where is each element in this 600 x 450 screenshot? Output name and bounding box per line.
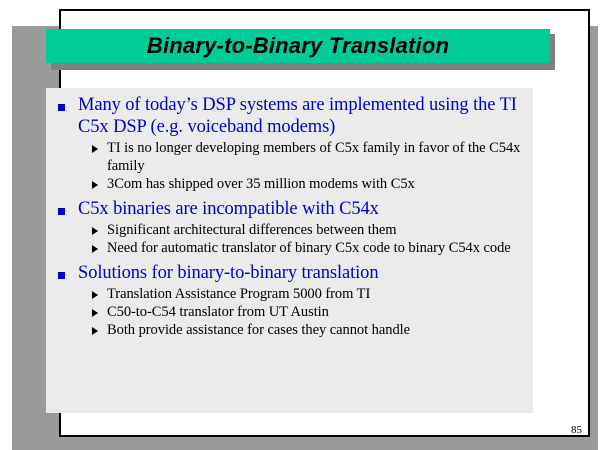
bullet-level2-label: Significant architectural differences be… bbox=[107, 221, 397, 239]
bullet-level2: Significant architectural differences be… bbox=[46, 221, 533, 239]
bullet-level1-label: C5x binaries are incompatible with C54x bbox=[78, 198, 379, 220]
square-bullet-icon bbox=[58, 104, 65, 111]
page-title: Binary-to-Binary Translation bbox=[147, 33, 449, 59]
bullet-level1: C5x binaries are incompatible with C54x bbox=[46, 198, 533, 220]
triangle-bullet-icon bbox=[92, 291, 98, 299]
bullet-level1: Solutions for binary-to-binary translati… bbox=[46, 262, 533, 284]
bullet-level2-label: Both provide assistance for cases they c… bbox=[107, 321, 410, 339]
bullet-level2: 3Com has shipped over 35 million modems … bbox=[46, 175, 533, 193]
bullet-level2: Translation Assistance Program 5000 from… bbox=[46, 285, 533, 303]
bullet-level1-label: Many of today’s DSP systems are implemen… bbox=[78, 94, 525, 138]
bullet-level1: Many of today’s DSP systems are implemen… bbox=[46, 94, 533, 138]
triangle-bullet-icon bbox=[92, 227, 98, 235]
bullet-level2-label: C50-to-C54 translator from UT Austin bbox=[107, 303, 329, 321]
triangle-bullet-icon bbox=[92, 309, 98, 317]
square-bullet-icon bbox=[58, 272, 65, 279]
bullet-level2-label: Translation Assistance Program 5000 from… bbox=[107, 285, 370, 303]
bullet-level2-label: Need for automatic translator of binary … bbox=[107, 239, 511, 257]
title-banner: Binary-to-Binary Translation bbox=[46, 29, 550, 63]
bullet-level2: Need for automatic translator of binary … bbox=[46, 239, 533, 257]
content-panel: Many of today’s DSP systems are implemen… bbox=[46, 88, 533, 413]
triangle-bullet-icon bbox=[92, 181, 98, 189]
triangle-bullet-icon bbox=[92, 145, 98, 153]
bullet-level2-label: TI is no longer developing members of C5… bbox=[107, 139, 525, 175]
bullet-level2: C50-to-C54 translator from UT Austin bbox=[46, 303, 533, 321]
slide: Binary-to-Binary Translation Many of tod… bbox=[0, 0, 600, 450]
bullet-level2: Both provide assistance for cases they c… bbox=[46, 321, 533, 339]
square-bullet-icon bbox=[58, 208, 65, 215]
triangle-bullet-icon bbox=[92, 245, 98, 253]
triangle-bullet-icon bbox=[92, 327, 98, 335]
page-number: 85 bbox=[571, 424, 582, 436]
bullet-level2-label: 3Com has shipped over 35 million modems … bbox=[107, 175, 415, 193]
bullet-level2: TI is no longer developing members of C5… bbox=[46, 139, 533, 175]
bullet-level1-label: Solutions for binary-to-binary translati… bbox=[78, 262, 378, 284]
